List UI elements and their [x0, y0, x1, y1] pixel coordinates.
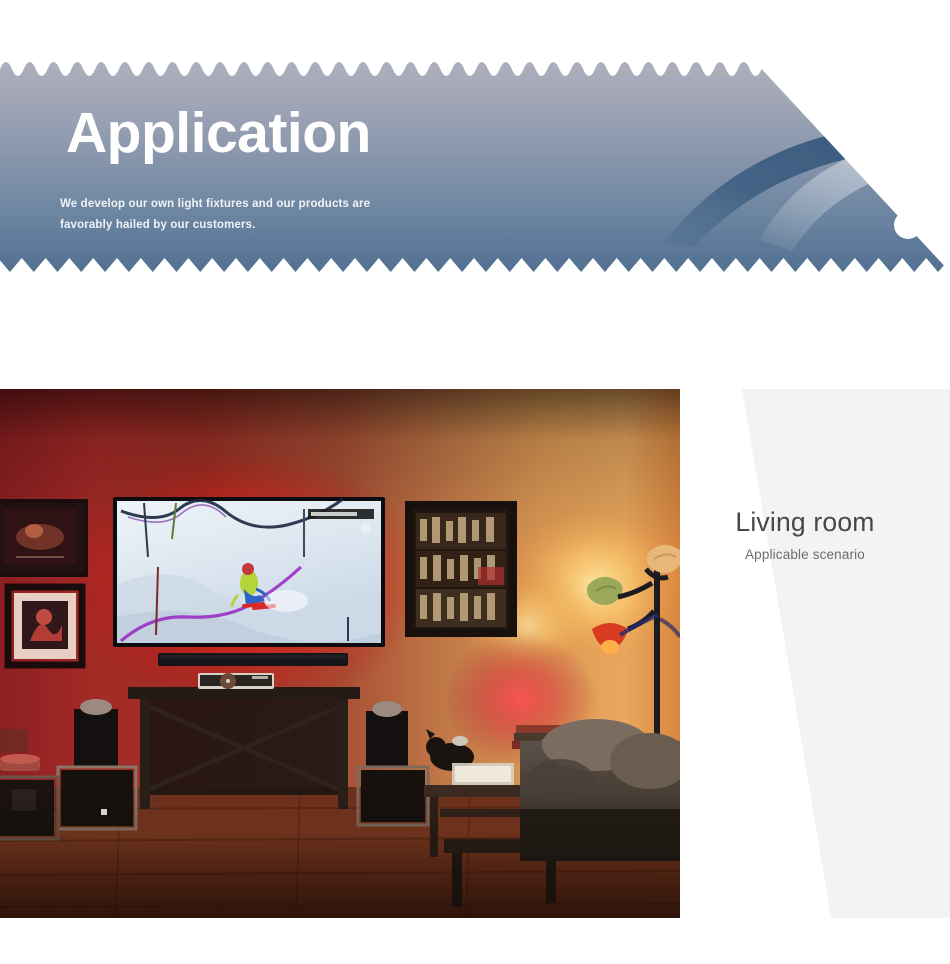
- decorative-dot: [894, 211, 922, 239]
- turntable: [198, 673, 274, 689]
- page-title: Application: [66, 105, 371, 162]
- soundbar: [158, 653, 348, 666]
- wall-frame-bottom-left: [8, 587, 82, 665]
- wall-mounted-tv: [113, 497, 385, 647]
- application-banner: Application We develop our own light fix…: [0, 55, 950, 272]
- wall-frame-top-left: [0, 501, 86, 575]
- banner-subtitle-line-1: We develop our own light fixtures and ou…: [60, 194, 490, 215]
- framed-poster-right: [409, 505, 513, 633]
- scenario-section: Living room Applicable scenario: [0, 389, 950, 918]
- living-room-photo-illustration: [0, 389, 680, 918]
- banner-subtitle-line-2: favorably hailed by our customers.: [60, 215, 490, 236]
- photo-vignette-bottom: [0, 789, 680, 918]
- console-table: [128, 673, 360, 809]
- application-page: Application We develop our own light fix…: [0, 0, 950, 964]
- scenario-photo: [0, 389, 680, 918]
- banner-subtitle: We develop our own light fixtures and ou…: [60, 194, 490, 237]
